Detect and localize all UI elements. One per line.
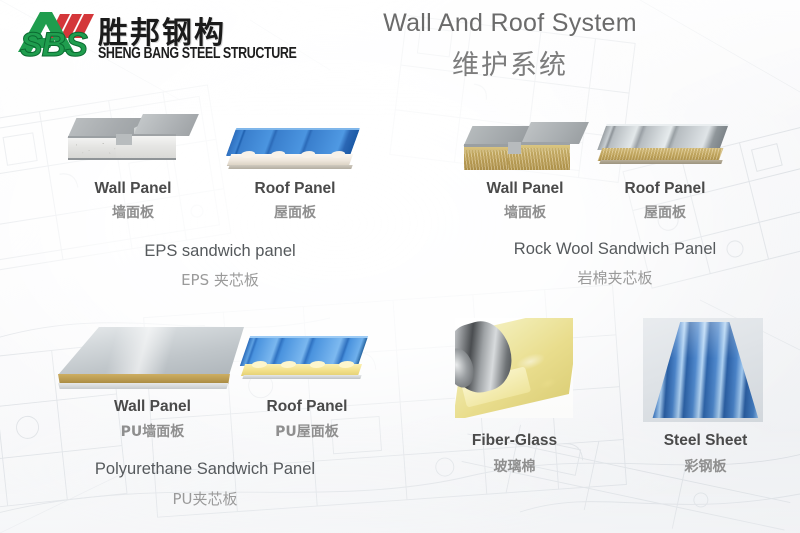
- steel-sheet-label-en: Steel Sheet: [618, 432, 793, 450]
- rockwool-roof-panel-label-cn: 屋面板: [570, 205, 760, 221]
- product-steel-sheet[interactable]: [643, 318, 763, 422]
- product-rockwool-roof-panel[interactable]: [600, 120, 728, 172]
- rockwool-wall-panel-image: [464, 118, 584, 178]
- pu-wall-panel-image: [58, 327, 244, 393]
- logo-sbs-text: SBS: [20, 28, 87, 62]
- eps-group-title-en: EPS sandwich panel: [75, 242, 365, 261]
- eps-group-title-cn: EPS 夹芯板: [75, 269, 365, 290]
- eps-roof-panel-label-cn: 屋面板: [190, 205, 400, 221]
- product-fiber-glass[interactable]: [455, 318, 573, 418]
- pu-roof-panel-label-en: Roof Panel: [212, 398, 402, 416]
- pu-roof-panel-label-cn: PU屋面板: [212, 424, 402, 440]
- pu-group-title-cn: PU夹芯板: [35, 488, 375, 509]
- fiber-glass-label-cn: 玻璃棉: [427, 459, 602, 475]
- product-eps-roof-panel[interactable]: [229, 124, 359, 178]
- eps-roof-panel-image: [229, 124, 359, 178]
- eps-roof-panel-label-en: Roof Panel: [190, 180, 400, 198]
- pu-roof-panel-image: [243, 332, 367, 386]
- title-chinese: 维护系统: [300, 43, 720, 82]
- pu-group-title-en: Polyurethane Sandwich Panel: [35, 460, 375, 479]
- logo-english-text: SHENG BANG STEEL STRUCTURE: [98, 44, 296, 62]
- page-title: Wall And Roof System 维护系统: [300, 8, 720, 82]
- rockwool-group-title-cn: 岩棉夹芯板: [455, 267, 775, 288]
- product-rockwool-wall-panel[interactable]: [464, 118, 584, 178]
- rockwool-roof-panel-label-en: Roof Panel: [570, 180, 760, 198]
- rockwool-roof-panel-image: [600, 120, 728, 172]
- product-pu-wall-panel[interactable]: [58, 327, 244, 393]
- fiber-glass-roll-image: [455, 318, 573, 418]
- rockwool-group-title-en: Rock Wool Sandwich Panel: [455, 240, 775, 259]
- title-english: Wall And Roof System: [300, 8, 720, 39]
- product-eps-wall-panel[interactable]: [68, 108, 194, 170]
- product-overview-poster: SBS 胜邦钢构 SHENG BANG STEEL STRUCTURE Wall…: [0, 0, 800, 533]
- fiber-glass-label-en: Fiber-Glass: [427, 432, 602, 450]
- steel-sheet-label-cn: 彩钢板: [618, 459, 793, 475]
- product-pu-roof-panel[interactable]: [243, 332, 367, 386]
- eps-wall-panel-image: [68, 108, 194, 170]
- steel-sheet-image: [643, 318, 763, 422]
- company-logo[interactable]: SBS 胜邦钢构 SHENG BANG STEEL STRUCTURE: [14, 6, 276, 68]
